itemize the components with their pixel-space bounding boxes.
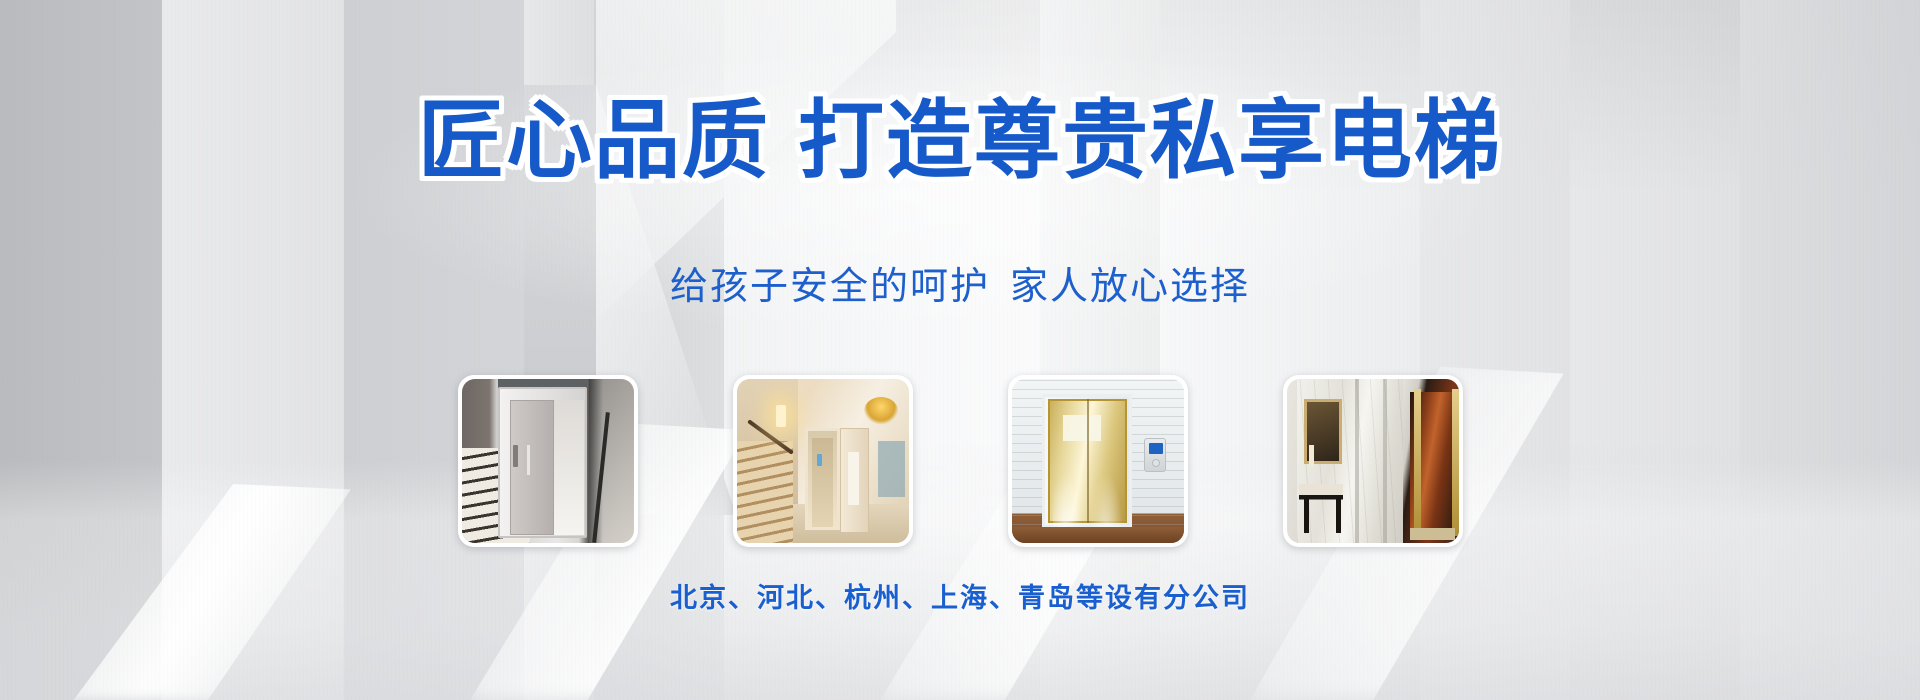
cabin-indicator: [817, 454, 822, 466]
curved-staircase: [737, 441, 794, 543]
thumbnail-silver-home-elevator-beside-staircase[interactable]: [458, 375, 638, 547]
wall-sconce-light: [776, 405, 786, 427]
window: [878, 441, 906, 497]
headline-part-2: 打造尊贵私享电梯: [798, 91, 1502, 191]
banner-content: 匠心品质打造尊贵私享电梯 给孩子安全的呵护家人放心选择: [0, 0, 1920, 700]
table-lamp: [1309, 445, 1314, 467]
marble-seam-2: [1383, 379, 1387, 543]
banner-subheadline: 给孩子安全的呵护家人放心选择: [0, 267, 1920, 305]
elevator-promo-banner: 匠心品质打造尊贵私享电梯 给孩子安全的呵护家人放心选择: [0, 0, 1920, 700]
reflected-window: [1063, 415, 1101, 441]
subhead-part-1: 给孩子安全的呵护: [670, 264, 990, 308]
subhead-part-2: 家人放心选择: [1010, 264, 1250, 308]
console-leg-left: [1304, 497, 1309, 533]
cabin-sill: [1410, 528, 1455, 539]
door-handle: [527, 445, 530, 475]
hinged-door: [840, 428, 869, 533]
thumbnail-gold-glass-elevator-doors-white-brick-wall[interactable]: [1008, 375, 1188, 547]
photo-marble-lobby-elevator: [1287, 379, 1459, 543]
product-thumbnail-strip: [0, 375, 1920, 547]
banner-headline: 匠心品质打造尊贵私享电梯: [0, 98, 1920, 184]
gold-door-jamb-right: [1452, 389, 1459, 537]
etched-pattern-left: [1053, 468, 1084, 534]
gold-door-jamb-left: [1414, 389, 1421, 537]
elevator-cabin-interior: [554, 400, 583, 534]
elevator-cabin-interior: [812, 438, 833, 527]
elevator-call-panel: [1144, 438, 1166, 472]
call-panel-display: [1149, 443, 1163, 454]
photo-beige-hallway-elevator: [737, 379, 909, 543]
thumbnail-beige-hallway-elevator-with-curved-stairs[interactable]: [733, 375, 913, 547]
console-leg-right: [1336, 497, 1341, 533]
call-panel: [513, 445, 518, 467]
photo-silver-home-elevator: [462, 379, 634, 543]
thumbnail-marble-lobby-elevator-with-wood-cabin[interactable]: [1283, 375, 1463, 547]
call-panel-button: [1152, 459, 1160, 467]
headline-part-1: 匠心品质: [418, 91, 770, 191]
wood-floor: [1012, 527, 1184, 543]
photo-gold-glass-elevator-doors: [1012, 379, 1184, 543]
door-split-line: [1087, 399, 1089, 524]
marble-seam-1: [1355, 379, 1359, 543]
branch-offices-tagline: 北京、河北、杭州、上海、青岛等设有分公司: [0, 585, 1920, 612]
chandelier: [864, 397, 898, 425]
elevator-door: [510, 400, 555, 534]
door-glass-lite: [848, 452, 859, 506]
